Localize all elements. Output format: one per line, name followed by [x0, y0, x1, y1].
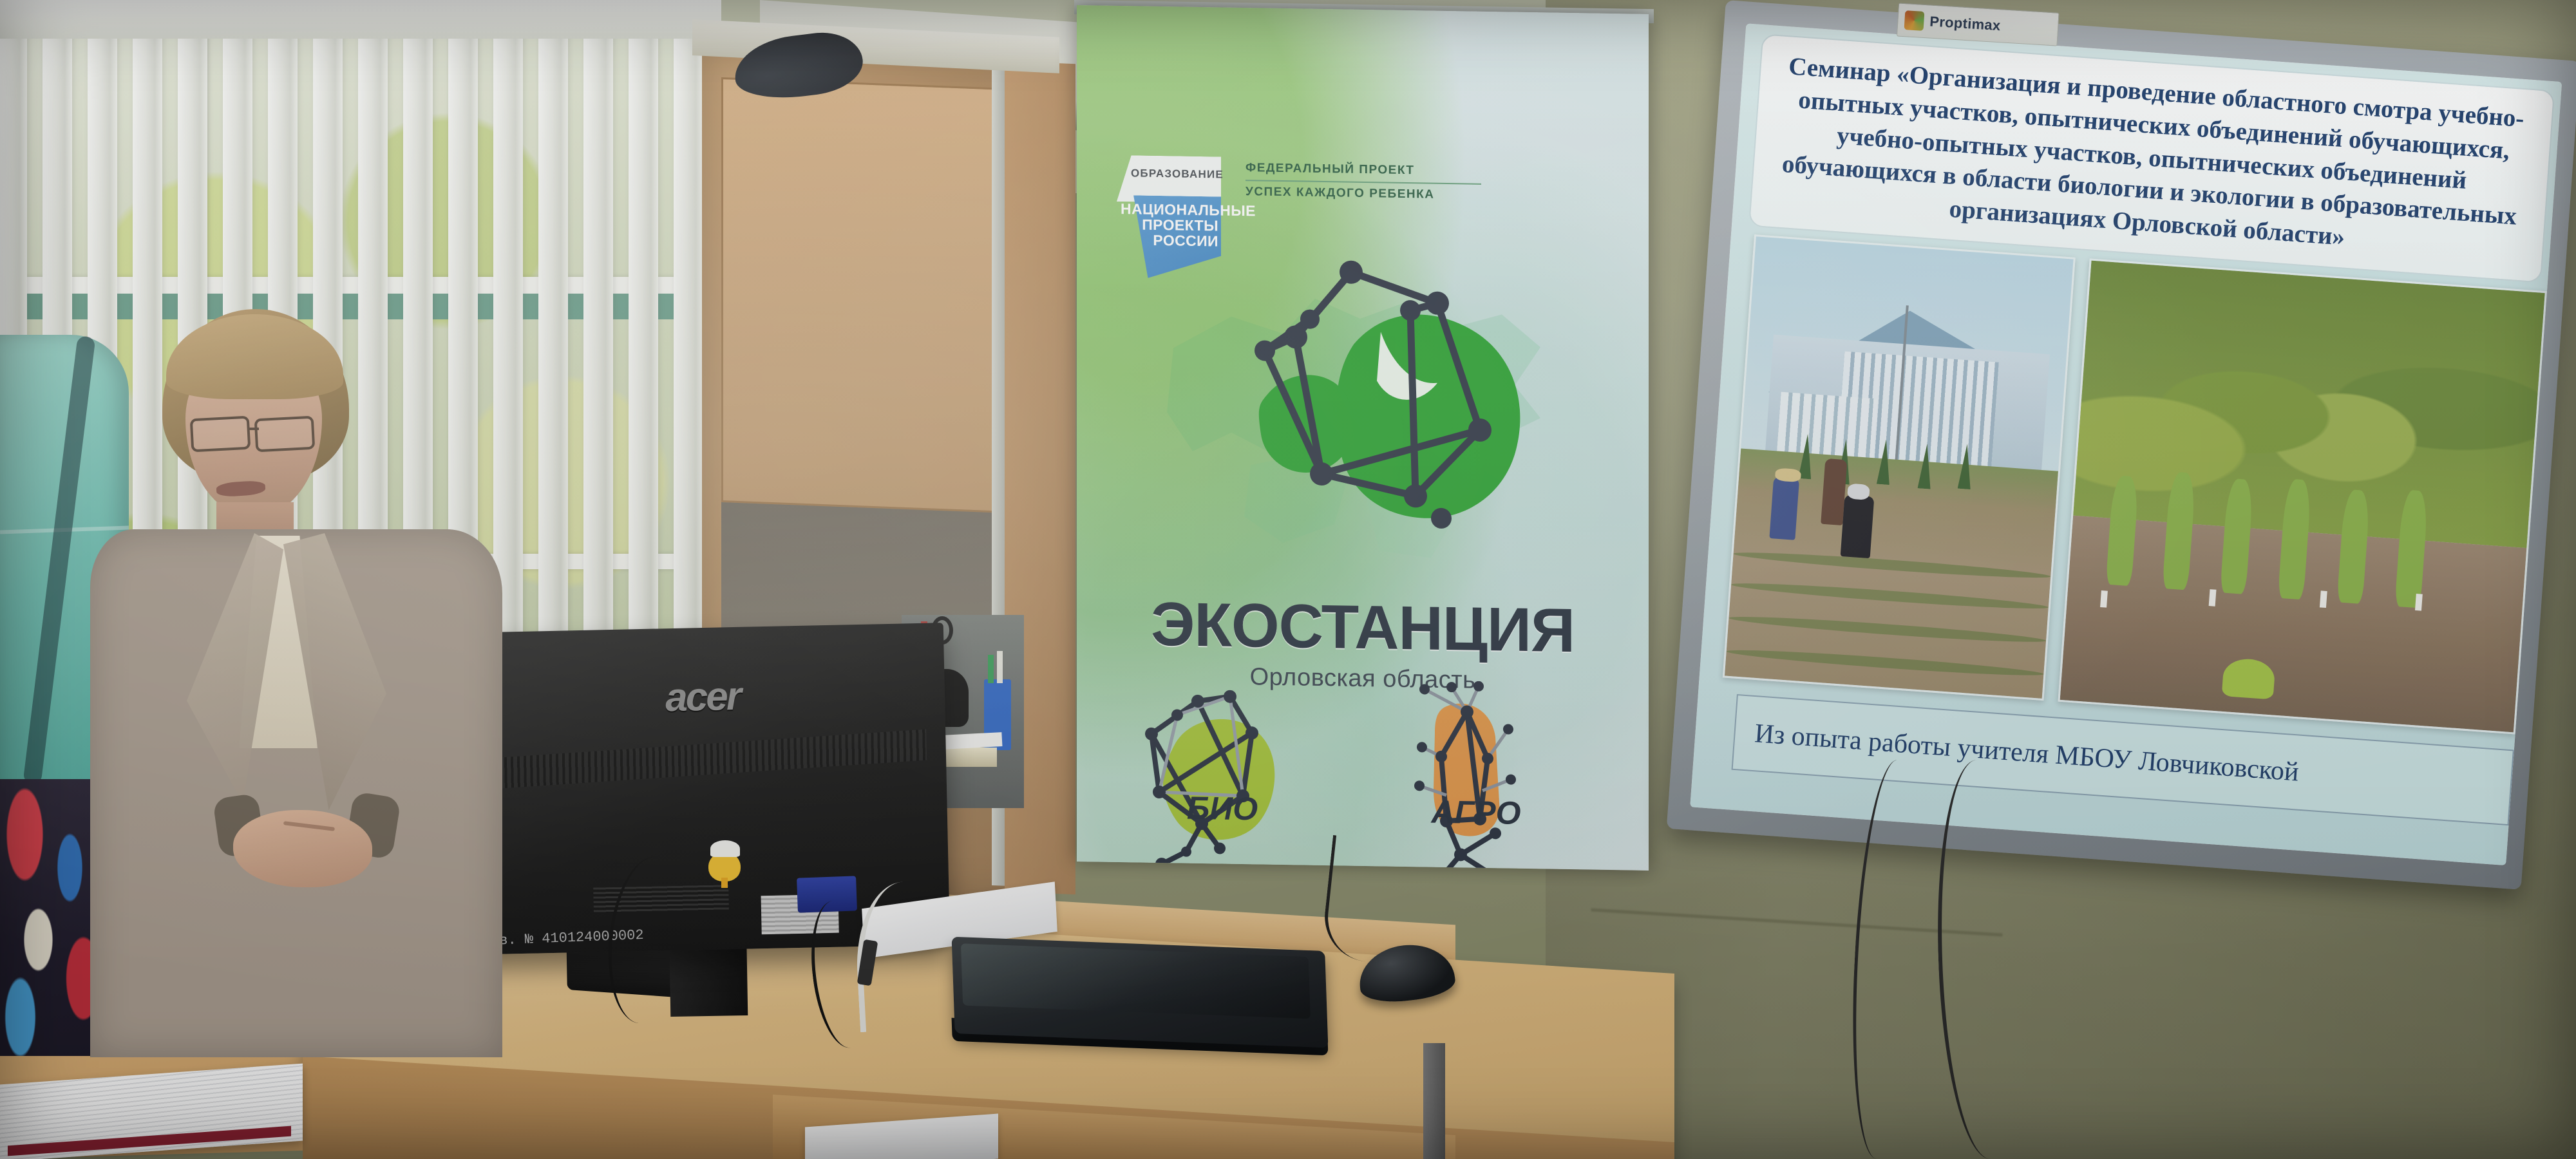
student-figure	[1841, 495, 1875, 558]
slide-photo-row	[1723, 234, 2547, 734]
projection-surface[interactable]: Семинар «Организация и проведение област…	[1690, 23, 2562, 865]
np-logo-lines: НАЦИОНАЛЬНЫЕ ПРОЕКТЫ РОССИИ	[1121, 202, 1218, 249]
cabinet-door[interactable]	[721, 77, 998, 513]
closed-black-laptop[interactable]	[952, 937, 1329, 1048]
photo-scene: ОБРАЗОВАНИЕ НАЦИОНАЛЬНЫЕ ПРОЕКТЫ РОССИИ …	[0, 0, 2576, 1159]
pen-white	[997, 651, 1003, 683]
presenter-woman	[90, 309, 502, 1056]
ecostation-rollup-banner: ОБРАЗОВАНИЕ НАЦИОНАЛЬНЫЕ ПРОЕКТЫ РОССИИ …	[1077, 5, 1649, 871]
blind-head-rail[interactable]	[0, 0, 721, 39]
ecostation-emblem-icon	[1225, 233, 1573, 599]
slide-title: Семинар «Организация и проведение област…	[1768, 50, 2536, 267]
interactive-whiteboard[interactable]: Семинар «Организация и проведение област…	[1667, 0, 2576, 890]
experimental-plot-rows-photo	[2058, 258, 2547, 734]
banner-title: ЭКОСТАНЦИЯ	[1077, 588, 1649, 668]
np-logo-line3: РОССИИ	[1121, 232, 1218, 249]
slide-caption: Из опыта работы учителя МБОУ Ловчиковско…	[1754, 718, 2300, 787]
clasped-hands	[233, 810, 372, 887]
glasses-right-lens	[254, 416, 316, 453]
acer-logo: acer	[460, 669, 945, 725]
presentation-slide: Семинар «Организация и проведение област…	[1690, 23, 2562, 865]
proptimax-brand-text: Proptimax	[1929, 14, 2002, 35]
bio-label: БИО	[1139, 789, 1306, 829]
national-projects-logo: ОБРАЗОВАНИЕ НАЦИОНАЛЬНЫЕ ПРОЕКТЫ РОССИИ	[1110, 155, 1223, 279]
proptimax-logo-icon	[1904, 10, 1925, 31]
federal-project-label: ФЕДЕРАЛЬНЫЙ ПРОЕКТ	[1245, 161, 1522, 180]
yellow-duck-figure	[708, 840, 741, 887]
student-figure	[1769, 476, 1799, 540]
federal-project-divider	[1245, 180, 1481, 185]
pen-green	[988, 655, 994, 683]
np-logo-education-label: ОБРАЗОВАНИЕ	[1131, 167, 1215, 181]
bio-leaf-node-icon	[1139, 689, 1311, 871]
school-building-and-plot-photo	[1723, 234, 2076, 701]
laptop-lid-reflection	[961, 943, 1311, 1019]
hair-fringe	[166, 314, 343, 399]
agro-label: АГРО	[1379, 792, 1573, 833]
glasses-left-lens	[190, 416, 251, 453]
federal-project-block: ФЕДЕРАЛЬНЫЙ ПРОЕКТ УСПЕХ КАЖДОГО РЕБЕНКА	[1245, 161, 1522, 203]
federal-project-name: УСПЕХ КАЖДОГО РЕБЕНКА	[1245, 185, 1522, 203]
monitor-vent	[494, 730, 927, 789]
glasses-bridge	[249, 428, 259, 430]
agro-wheat-node-icon	[1385, 680, 1565, 871]
desk-leg	[1423, 1043, 1445, 1159]
